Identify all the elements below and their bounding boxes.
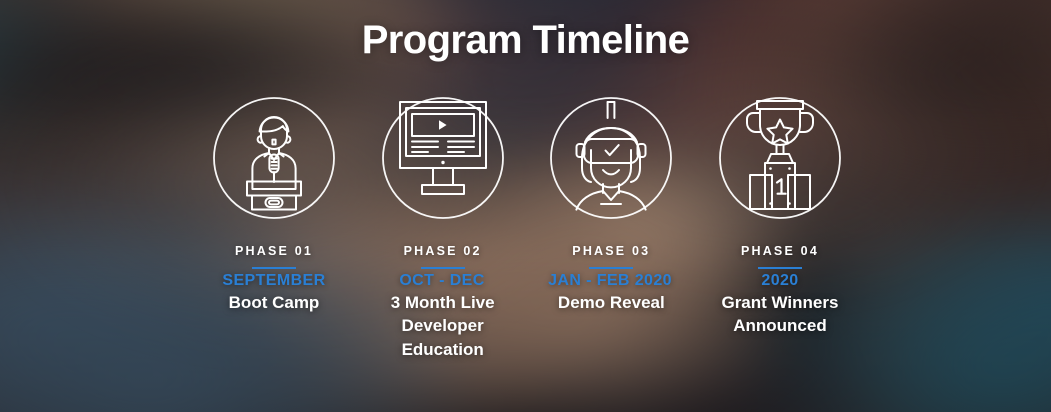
vr-headset-person-icon (549, 96, 673, 220)
phase-label-04: PHASE 04 (741, 244, 819, 258)
phase-item-02[interactable]: PHASE 02 3 Month Live Developer Educatio… (359, 96, 527, 361)
phase-rule-04 (758, 267, 802, 269)
speaker-podium-icon (212, 96, 336, 220)
phase-date-01: SEPTEMBER (190, 272, 358, 290)
phase-icon-wrap-01 (212, 96, 336, 220)
desktop-video-lesson-icon (381, 96, 505, 220)
phase-icon-wrap-04 (718, 96, 842, 220)
phase-title-04: Grant Winners Announced (696, 291, 864, 338)
phase-title-03: Demo Reveal (558, 291, 665, 315)
phase-date-03: JAN - FEB 2020 (526, 272, 694, 290)
phase-item-04[interactable]: PHASE 04 Grant Winners Announced (696, 96, 864, 361)
phase-title-01: Boot Camp (229, 291, 320, 315)
trophy-podium-icon (718, 96, 842, 220)
phase-rule-02 (421, 267, 465, 269)
phase-icon-wrap-02 (381, 96, 505, 220)
program-timeline-banner: Program Timeline (0, 0, 1051, 412)
phase-title-02: 3 Month Live Developer Education (359, 291, 527, 361)
phase-list: PHASE 01 Boot Camp (190, 96, 864, 361)
phase-date-04: 2020 (696, 272, 864, 290)
phase-rule-03 (589, 267, 633, 269)
phase-date-02: OCT - DEC (358, 272, 526, 290)
phase-rule-01 (252, 267, 296, 269)
phase-label-02: PHASE 02 (404, 244, 482, 258)
timeline-content: Program Timeline (0, 0, 1051, 412)
phase-label-03: PHASE 03 (572, 244, 650, 258)
page-title: Program Timeline (0, 18, 1051, 63)
phase-item-01[interactable]: PHASE 01 Boot Camp (190, 96, 358, 361)
phase-label-01: PHASE 01 (235, 244, 313, 258)
phase-item-03[interactable]: PHASE 03 Demo Reveal (527, 96, 695, 361)
phase-icon-wrap-03 (549, 96, 673, 220)
